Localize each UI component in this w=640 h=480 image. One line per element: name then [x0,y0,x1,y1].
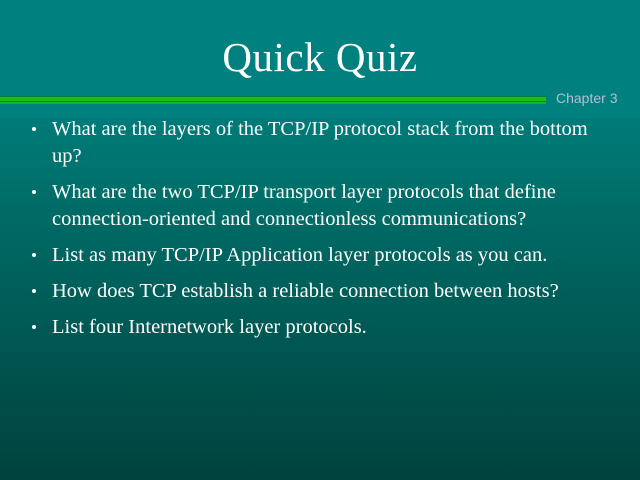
bullet-dot-icon [32,325,36,329]
list-item: List as many TCP/IP Application layer pr… [0,242,640,269]
divider-line-lower [0,102,546,104]
bullet-dot-icon [32,289,36,293]
list-item: List four Internetwork layer protocols. [0,314,640,341]
title-divider-rule [0,96,546,105]
bullet-dot-icon [32,127,36,131]
bullet-text: What are the two TCP/IP transport layer … [52,179,600,233]
list-item: What are the two TCP/IP transport layer … [0,179,640,233]
slide-canvas: Quick Quiz Chapter 3 What are the layers… [0,0,640,480]
list-item: What are the layers of the TCP/IP protoc… [0,116,640,170]
bullet-text: List as many TCP/IP Application layer pr… [52,242,600,269]
bullet-dot-icon [32,253,36,257]
bullet-text: What are the layers of the TCP/IP protoc… [52,116,600,170]
bullet-dot-icon [32,190,36,194]
bullet-list: What are the layers of the TCP/IP protoc… [0,116,640,350]
list-item: How does TCP establish a reliable connec… [0,278,640,305]
chapter-label: Chapter 3 [556,89,617,107]
bullet-text: How does TCP establish a reliable connec… [52,278,600,305]
bullet-text: List four Internetwork layer protocols. [52,314,600,341]
slide-title: Quick Quiz [0,32,640,82]
